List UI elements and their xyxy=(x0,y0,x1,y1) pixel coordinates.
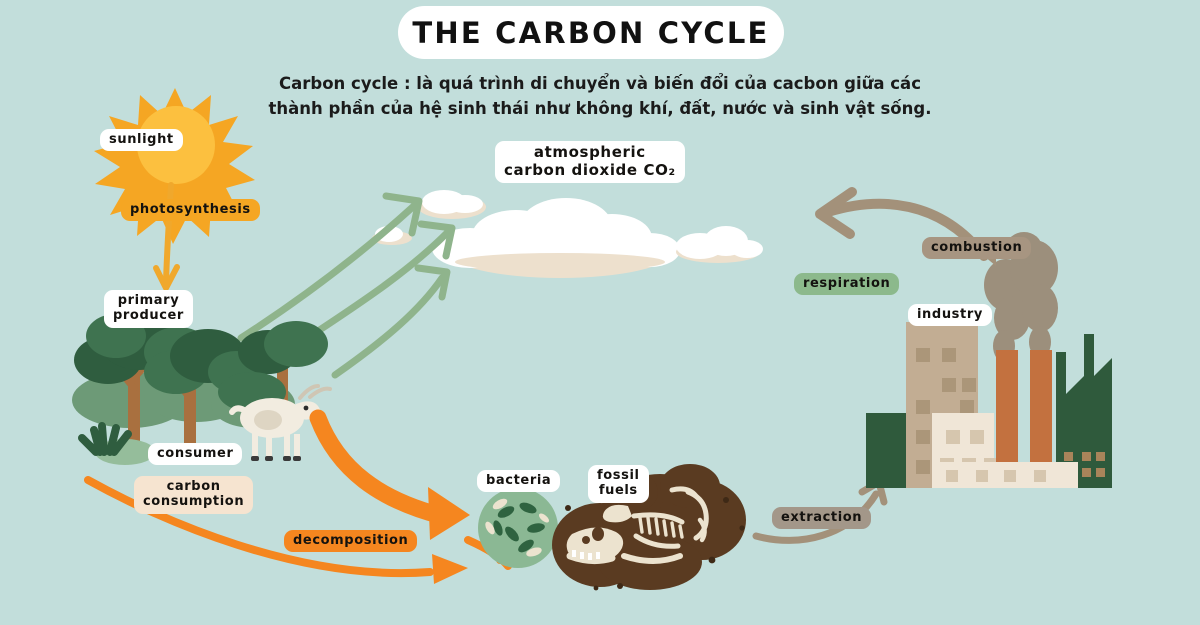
label-decomposition: decomposition xyxy=(284,530,417,552)
label-consumer: consumer xyxy=(148,443,242,465)
subtitle-line-1: Carbon cycle : là quá trình di chuyển và… xyxy=(250,72,950,97)
page-title-pill: THE CARBON CYCLE xyxy=(398,6,784,59)
label-combustion: combustion xyxy=(922,237,1031,259)
page-title: THE CARBON CYCLE xyxy=(412,16,769,50)
label-bacteria: bacteria xyxy=(477,470,560,492)
label-fossil-fuels: fossil fuels xyxy=(588,465,649,503)
label-extraction: extraction xyxy=(772,507,871,529)
subtitle-line-2: thành phần của hệ sinh thái như không kh… xyxy=(250,97,950,122)
bacteria-illustration xyxy=(478,488,558,568)
decomposition-arrow-upper xyxy=(318,418,470,540)
label-sunlight: sunlight xyxy=(100,129,183,151)
label-industry: industry xyxy=(908,304,992,326)
label-respiration: respiration xyxy=(794,273,899,295)
label-atmospheric-co2: atmospheric carbon dioxide CO₂ xyxy=(495,141,685,183)
label-primary-producer: primary producer xyxy=(104,290,193,328)
label-carbon-consumption: carbon consumption xyxy=(134,476,253,514)
fossil-fuels-illustration xyxy=(552,464,746,590)
label-photosynthesis: photosynthesis xyxy=(121,199,260,221)
subtitle-text: Carbon cycle : là quá trình di chuyển và… xyxy=(250,72,950,122)
clouds-illustration xyxy=(372,190,763,278)
industry-illustration xyxy=(866,232,1112,488)
carbon-cycle-diagram: THE CARBON CYCLE Carbon cycle : là quá t… xyxy=(0,0,1200,625)
